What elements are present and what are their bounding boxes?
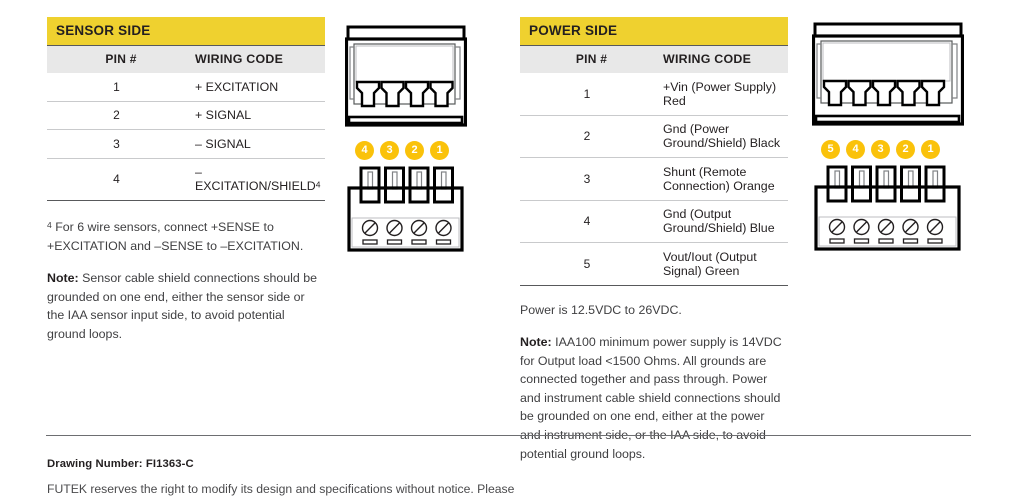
table-row: 5 Vout/Iout (Output Signal) Green [520,243,788,286]
power-side-table: POWER SIDE PIN # WIRING CODE 1 +Vin (Pow… [520,17,788,286]
sensor-connector-bottom-graphic [345,166,467,253]
pin-number: 3 [520,158,654,201]
table-header-row: PIN # WIRING CODE [520,46,788,74]
footnote-marker: 4 [316,180,321,190]
footer-divider [46,435,971,436]
sensor-side-connector-diagram: 4 3 2 1 [345,25,467,253]
table-row: 4 – EXCITATION/SHIELD4 [47,158,325,201]
power-side-panel: POWER SIDE PIN # WIRING CODE 1 +Vin (Pow… [520,17,788,463]
sensor-note: Note: Sensor cable shield connections sh… [47,269,325,343]
power-range-text: Power is 12.5VDC to 26VDC. [520,301,788,320]
table-row: 2 + SIGNAL [47,101,325,130]
power-side-connector-diagram: 5 4 3 2 1 [812,22,964,252]
wiring-code: Gnd (Power Ground/Shield) Black [654,115,788,158]
pin-number: 1 [520,73,654,115]
table-row: 1 + EXCITATION [47,73,325,101]
power-note: Note: IAA100 minimum power supply is 14V… [520,333,788,463]
power-connector-top-graphic [812,22,964,135]
wiring-code: Gnd (Output Ground/Shield) Blue [654,200,788,243]
power-pin-badges: 5 4 3 2 1 [821,140,964,159]
sensor-pin-badges: 4 3 2 1 [355,141,467,160]
pin-badge: 3 [380,141,399,160]
wiring-code: + EXCITATION [186,73,325,101]
wiring-code: Shunt (Remote Connection) Orange [654,158,788,201]
pin-badge: 5 [821,140,840,159]
footer: Drawing Number: FI1363-C FUTEK reserves … [47,458,747,498]
note-label: Note: [47,271,79,285]
table-title-row: POWER SIDE [520,17,788,46]
sensor-side-panel: SENSOR SIDE PIN # WIRING CODE 1 + EXCITA… [47,17,325,343]
note-text: Sensor cable shield connections should b… [47,271,317,341]
column-header-wiring-code: WIRING CODE [186,46,325,74]
pin-badge: 4 [355,141,374,160]
pin-badge: 1 [430,141,449,160]
pin-number: 1 [47,73,186,101]
column-header-pin: PIN # [47,46,186,74]
table-title-row: SENSOR SIDE [47,17,325,46]
wiring-code: Vout/Iout (Output Signal) Green [654,243,788,286]
pin-number: 2 [47,101,186,130]
column-header-pin: PIN # [520,46,654,74]
wiring-code: – SIGNAL [186,130,325,159]
power-notes: Power is 12.5VDC to 26VDC. Note: IAA100 … [520,301,788,464]
pin-number: 5 [520,243,654,286]
footnote-text: For 6 wire sensors, connect +SENSE to +E… [47,220,303,253]
pin-number: 3 [47,130,186,159]
pin-badge: 2 [896,140,915,159]
table-header-row: PIN # WIRING CODE [47,46,325,74]
sensor-side-table: SENSOR SIDE PIN # WIRING CODE 1 + EXCITA… [47,17,325,201]
wiring-code: +Vin (Power Supply) Red [654,73,788,115]
pin-badge: 4 [846,140,865,159]
drawing-number: Drawing Number: FI1363-C [47,458,747,470]
disclaimer-text: FUTEK reserves the right to modify its d… [47,481,747,498]
wiring-code: – EXCITATION/SHIELD4 [186,158,325,201]
sensor-side-title: SENSOR SIDE [47,17,325,46]
wiring-code: + SIGNAL [186,101,325,130]
table-row: 4 Gnd (Output Ground/Shield) Blue [520,200,788,243]
note-label: Note: [520,335,552,349]
note-text: IAA100 minimum power supply is 14VDC for… [520,335,782,461]
table-row: 3 – SIGNAL [47,130,325,159]
pin-badge: 3 [871,140,890,159]
sensor-connector-top-graphic [345,25,467,135]
pin-badge: 2 [405,141,424,160]
sensor-footnote: 4 For 6 wire sensors, connect +SENSE to … [47,216,325,255]
pin-badge: 1 [921,140,940,159]
column-header-wiring-code: WIRING CODE [654,46,788,74]
table-row: 1 +Vin (Power Supply) Red [520,73,788,115]
pin-number: 4 [47,158,186,201]
power-side-title: POWER SIDE [520,17,788,46]
power-connector-bottom-graphic [812,165,964,252]
wiring-code-text: – EXCITATION/SHIELD [195,165,316,193]
footnote-marker: 4 [47,220,52,230]
pin-number: 2 [520,115,654,158]
table-row: 2 Gnd (Power Ground/Shield) Black [520,115,788,158]
pin-number: 4 [520,200,654,243]
table-row: 3 Shunt (Remote Connection) Orange [520,158,788,201]
sensor-notes: 4 For 6 wire sensors, connect +SENSE to … [47,216,325,343]
